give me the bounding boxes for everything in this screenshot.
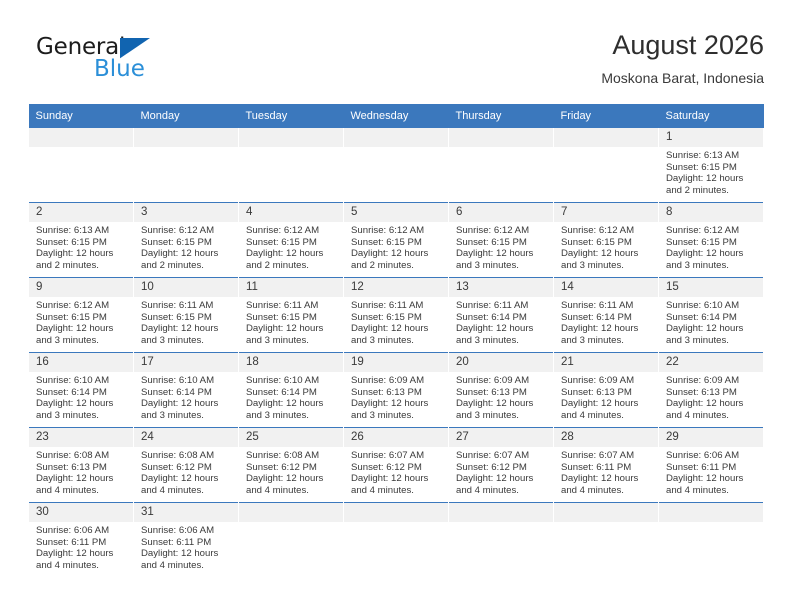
calendar-week-row: 23Sunrise: 6:08 AMSunset: 6:13 PMDayligh… bbox=[29, 428, 764, 503]
sunset-text: Sunset: 6:15 PM bbox=[561, 237, 652, 249]
day-sun-info: Sunrise: 6:12 AMSunset: 6:15 PMDaylight:… bbox=[344, 222, 448, 271]
day-number: 31 bbox=[134, 503, 238, 522]
sunset-text: Sunset: 6:14 PM bbox=[36, 387, 127, 399]
daylight-text-line1: Daylight: 12 hours bbox=[456, 398, 547, 410]
day-number bbox=[449, 503, 553, 522]
sunset-text: Sunset: 6:14 PM bbox=[666, 312, 757, 324]
day-sun-info: Sunrise: 6:06 AMSunset: 6:11 PMDaylight:… bbox=[659, 447, 763, 496]
calendar-day-cell[interactable]: 24Sunrise: 6:08 AMSunset: 6:12 PMDayligh… bbox=[134, 428, 239, 503]
sunset-text: Sunset: 6:14 PM bbox=[246, 387, 337, 399]
day-number bbox=[239, 503, 343, 522]
calendar-week-row: 9Sunrise: 6:12 AMSunset: 6:15 PMDaylight… bbox=[29, 278, 764, 353]
sunset-text: Sunset: 6:12 PM bbox=[351, 462, 442, 474]
calendar-empty-cell bbox=[449, 503, 554, 578]
day-number bbox=[239, 128, 343, 147]
weekday-header-thursday: Thursday bbox=[449, 104, 554, 128]
sunrise-text: Sunrise: 6:09 AM bbox=[456, 375, 547, 387]
day-sun-info: Sunrise: 6:09 AMSunset: 6:13 PMDaylight:… bbox=[659, 372, 763, 421]
page-title: August 2026 bbox=[601, 28, 764, 62]
general-blue-logo[interactable]: General Blue bbox=[36, 34, 236, 90]
calendar-empty-cell bbox=[449, 128, 554, 203]
day-number: 3 bbox=[134, 203, 238, 222]
sunrise-text: Sunrise: 6:07 AM bbox=[561, 450, 652, 462]
day-sun-info: Sunrise: 6:12 AMSunset: 6:15 PMDaylight:… bbox=[449, 222, 553, 271]
daylight-text-line2: and 3 minutes. bbox=[456, 335, 547, 347]
day-sun-info: Sunrise: 6:12 AMSunset: 6:15 PMDaylight:… bbox=[239, 222, 343, 271]
calendar-week-row: 1Sunrise: 6:13 AMSunset: 6:15 PMDaylight… bbox=[29, 128, 764, 203]
daylight-text-line2: and 3 minutes. bbox=[561, 335, 652, 347]
daylight-text-line1: Daylight: 12 hours bbox=[246, 398, 337, 410]
calendar-empty-cell bbox=[554, 128, 659, 203]
calendar-header-row: Sunday Monday Tuesday Wednesday Thursday… bbox=[29, 104, 764, 128]
day-sun-info: Sunrise: 6:09 AMSunset: 6:13 PMDaylight:… bbox=[554, 372, 658, 421]
daylight-text-line1: Daylight: 12 hours bbox=[141, 248, 232, 260]
day-sun-info: Sunrise: 6:09 AMSunset: 6:13 PMDaylight:… bbox=[449, 372, 553, 421]
sunrise-text: Sunrise: 6:12 AM bbox=[351, 225, 442, 237]
sunset-text: Sunset: 6:15 PM bbox=[141, 312, 232, 324]
day-number: 26 bbox=[344, 428, 448, 447]
sunrise-text: Sunrise: 6:10 AM bbox=[246, 375, 337, 387]
sunrise-text: Sunrise: 6:11 AM bbox=[561, 300, 652, 312]
title-block: August 2026 Moskona Barat, Indonesia bbox=[601, 28, 764, 89]
daylight-text-line2: and 3 minutes. bbox=[141, 410, 232, 422]
day-number: 2 bbox=[29, 203, 133, 222]
daylight-text-line1: Daylight: 12 hours bbox=[561, 398, 652, 410]
daylight-text-line2: and 2 minutes. bbox=[351, 260, 442, 272]
day-number: 10 bbox=[134, 278, 238, 297]
page-subtitle: Moskona Barat, Indonesia bbox=[601, 67, 764, 89]
calendar-day-cell[interactable]: 4Sunrise: 6:12 AMSunset: 6:15 PMDaylight… bbox=[239, 203, 344, 278]
sunrise-text: Sunrise: 6:11 AM bbox=[141, 300, 232, 312]
daylight-text-line2: and 3 minutes. bbox=[141, 335, 232, 347]
daylight-text-line1: Daylight: 12 hours bbox=[351, 473, 442, 485]
day-number: 9 bbox=[29, 278, 133, 297]
calendar-grid: Sunday Monday Tuesday Wednesday Thursday… bbox=[28, 104, 764, 577]
day-number: 24 bbox=[134, 428, 238, 447]
calendar-day-cell[interactable]: 1Sunrise: 6:13 AMSunset: 6:15 PMDaylight… bbox=[659, 128, 764, 203]
sunset-text: Sunset: 6:12 PM bbox=[246, 462, 337, 474]
daylight-text-line2: and 2 minutes. bbox=[666, 185, 757, 197]
day-number: 4 bbox=[239, 203, 343, 222]
calendar-day-cell[interactable]: 12Sunrise: 6:11 AMSunset: 6:15 PMDayligh… bbox=[344, 278, 449, 353]
sunrise-text: Sunrise: 6:10 AM bbox=[36, 375, 127, 387]
day-sun-info: Sunrise: 6:08 AMSunset: 6:12 PMDaylight:… bbox=[239, 447, 343, 496]
sunrise-text: Sunrise: 6:08 AM bbox=[246, 450, 337, 462]
day-number bbox=[134, 128, 238, 147]
daylight-text-line1: Daylight: 12 hours bbox=[666, 473, 757, 485]
day-sun-info: Sunrise: 6:10 AMSunset: 6:14 PMDaylight:… bbox=[29, 372, 133, 421]
calendar-empty-cell bbox=[239, 503, 344, 578]
daylight-text-line2: and 4 minutes. bbox=[246, 485, 337, 497]
day-number: 12 bbox=[344, 278, 448, 297]
daylight-text-line1: Daylight: 12 hours bbox=[36, 398, 127, 410]
day-number bbox=[344, 128, 448, 147]
sunrise-text: Sunrise: 6:07 AM bbox=[351, 450, 442, 462]
weekday-header-saturday: Saturday bbox=[659, 104, 764, 128]
calendar-day-cell[interactable]: 17Sunrise: 6:10 AMSunset: 6:14 PMDayligh… bbox=[134, 353, 239, 428]
sunrise-text: Sunrise: 6:09 AM bbox=[666, 375, 757, 387]
sunset-text: Sunset: 6:15 PM bbox=[246, 237, 337, 249]
sunrise-text: Sunrise: 6:09 AM bbox=[561, 375, 652, 387]
sunset-text: Sunset: 6:14 PM bbox=[141, 387, 232, 399]
day-sun-info: Sunrise: 6:07 AMSunset: 6:11 PMDaylight:… bbox=[554, 447, 658, 496]
day-number: 29 bbox=[659, 428, 763, 447]
calendar-day-cell[interactable]: 19Sunrise: 6:09 AMSunset: 6:13 PMDayligh… bbox=[344, 353, 449, 428]
sunset-text: Sunset: 6:15 PM bbox=[351, 237, 442, 249]
calendar-day-cell[interactable]: 5Sunrise: 6:12 AMSunset: 6:15 PMDaylight… bbox=[344, 203, 449, 278]
day-sun-info: Sunrise: 6:08 AMSunset: 6:13 PMDaylight:… bbox=[29, 447, 133, 496]
calendar-empty-cell bbox=[344, 503, 449, 578]
day-number: 21 bbox=[554, 353, 658, 372]
sunset-text: Sunset: 6:15 PM bbox=[666, 162, 757, 174]
calendar-day-cell[interactable]: 28Sunrise: 6:07 AMSunset: 6:11 PMDayligh… bbox=[554, 428, 659, 503]
day-number: 11 bbox=[239, 278, 343, 297]
day-number bbox=[449, 128, 553, 147]
daylight-text-line1: Daylight: 12 hours bbox=[141, 548, 232, 560]
daylight-text-line2: and 3 minutes. bbox=[666, 260, 757, 272]
day-number bbox=[344, 503, 448, 522]
day-sun-info: Sunrise: 6:10 AMSunset: 6:14 PMDaylight:… bbox=[134, 372, 238, 421]
calendar-day-cell[interactable]: 14Sunrise: 6:11 AMSunset: 6:14 PMDayligh… bbox=[554, 278, 659, 353]
daylight-text-line2: and 3 minutes. bbox=[351, 410, 442, 422]
day-sun-info: Sunrise: 6:08 AMSunset: 6:12 PMDaylight:… bbox=[134, 447, 238, 496]
calendar-week-row: 16Sunrise: 6:10 AMSunset: 6:14 PMDayligh… bbox=[29, 353, 764, 428]
daylight-text-line1: Daylight: 12 hours bbox=[36, 548, 127, 560]
calendar-day-cell[interactable]: 25Sunrise: 6:08 AMSunset: 6:12 PMDayligh… bbox=[239, 428, 344, 503]
day-number bbox=[554, 503, 658, 522]
day-sun-info: Sunrise: 6:06 AMSunset: 6:11 PMDaylight:… bbox=[134, 522, 238, 571]
day-number: 15 bbox=[659, 278, 763, 297]
sunrise-text: Sunrise: 6:07 AM bbox=[456, 450, 547, 462]
day-number: 13 bbox=[449, 278, 553, 297]
daylight-text-line2: and 4 minutes. bbox=[141, 560, 232, 572]
sunset-text: Sunset: 6:13 PM bbox=[36, 462, 127, 474]
weekday-header-monday: Monday bbox=[134, 104, 239, 128]
calendar-day-cell[interactable]: 26Sunrise: 6:07 AMSunset: 6:12 PMDayligh… bbox=[344, 428, 449, 503]
calendar-day-cell[interactable]: 11Sunrise: 6:11 AMSunset: 6:15 PMDayligh… bbox=[239, 278, 344, 353]
calendar-day-cell[interactable]: 20Sunrise: 6:09 AMSunset: 6:13 PMDayligh… bbox=[449, 353, 554, 428]
day-sun-info: Sunrise: 6:12 AMSunset: 6:15 PMDaylight:… bbox=[554, 222, 658, 271]
day-sun-info: Sunrise: 6:11 AMSunset: 6:14 PMDaylight:… bbox=[449, 297, 553, 346]
day-number: 6 bbox=[449, 203, 553, 222]
sunrise-text: Sunrise: 6:11 AM bbox=[351, 300, 442, 312]
sunrise-text: Sunrise: 6:13 AM bbox=[36, 225, 127, 237]
day-number bbox=[29, 128, 133, 147]
calendar-week-row: 30Sunrise: 6:06 AMSunset: 6:11 PMDayligh… bbox=[29, 503, 764, 578]
daylight-text-line1: Daylight: 12 hours bbox=[36, 248, 127, 260]
daylight-text-line2: and 3 minutes. bbox=[666, 335, 757, 347]
daylight-text-line2: and 3 minutes. bbox=[456, 260, 547, 272]
daylight-text-line1: Daylight: 12 hours bbox=[456, 248, 547, 260]
calendar-day-cell[interactable]: 15Sunrise: 6:10 AMSunset: 6:14 PMDayligh… bbox=[659, 278, 764, 353]
daylight-text-line2: and 4 minutes. bbox=[561, 410, 652, 422]
day-sun-info: Sunrise: 6:13 AMSunset: 6:15 PMDaylight:… bbox=[659, 147, 763, 196]
calendar-page: General Blue August 2026 Moskona Barat, … bbox=[0, 0, 792, 612]
daylight-text-line2: and 2 minutes. bbox=[141, 260, 232, 272]
daylight-text-line1: Daylight: 12 hours bbox=[141, 398, 232, 410]
daylight-text-line1: Daylight: 12 hours bbox=[36, 323, 127, 335]
sunset-text: Sunset: 6:15 PM bbox=[351, 312, 442, 324]
page-header: General Blue August 2026 Moskona Barat, … bbox=[28, 28, 764, 96]
sunrise-text: Sunrise: 6:09 AM bbox=[351, 375, 442, 387]
daylight-text-line1: Daylight: 12 hours bbox=[666, 248, 757, 260]
daylight-text-line2: and 3 minutes. bbox=[561, 260, 652, 272]
sunset-text: Sunset: 6:12 PM bbox=[456, 462, 547, 474]
calendar-empty-cell bbox=[344, 128, 449, 203]
calendar-empty-cell bbox=[134, 128, 239, 203]
calendar-day-cell[interactable]: 8Sunrise: 6:12 AMSunset: 6:15 PMDaylight… bbox=[659, 203, 764, 278]
calendar-day-cell[interactable]: 6Sunrise: 6:12 AMSunset: 6:15 PMDaylight… bbox=[449, 203, 554, 278]
sunrise-text: Sunrise: 6:13 AM bbox=[666, 150, 757, 162]
daylight-text-line2: and 3 minutes. bbox=[456, 410, 547, 422]
sunrise-text: Sunrise: 6:10 AM bbox=[666, 300, 757, 312]
daylight-text-line2: and 4 minutes. bbox=[36, 485, 127, 497]
sunset-text: Sunset: 6:14 PM bbox=[456, 312, 547, 324]
sunrise-text: Sunrise: 6:12 AM bbox=[561, 225, 652, 237]
day-sun-info: Sunrise: 6:06 AMSunset: 6:11 PMDaylight:… bbox=[29, 522, 133, 571]
sunrise-text: Sunrise: 6:08 AM bbox=[36, 450, 127, 462]
day-number: 1 bbox=[659, 128, 763, 147]
day-sun-info: Sunrise: 6:11 AMSunset: 6:15 PMDaylight:… bbox=[134, 297, 238, 346]
daylight-text-line2: and 4 minutes. bbox=[456, 485, 547, 497]
day-number: 18 bbox=[239, 353, 343, 372]
calendar-day-cell[interactable]: 16Sunrise: 6:10 AMSunset: 6:14 PMDayligh… bbox=[29, 353, 134, 428]
sunrise-text: Sunrise: 6:12 AM bbox=[141, 225, 232, 237]
daylight-text-line2: and 4 minutes. bbox=[141, 485, 232, 497]
calendar-day-cell[interactable]: 30Sunrise: 6:06 AMSunset: 6:11 PMDayligh… bbox=[29, 503, 134, 578]
calendar-day-cell[interactable]: 9Sunrise: 6:12 AMSunset: 6:15 PMDaylight… bbox=[29, 278, 134, 353]
daylight-text-line1: Daylight: 12 hours bbox=[666, 173, 757, 185]
sunset-text: Sunset: 6:14 PM bbox=[561, 312, 652, 324]
day-number bbox=[659, 503, 763, 522]
day-number: 27 bbox=[449, 428, 553, 447]
daylight-text-line2: and 4 minutes. bbox=[666, 485, 757, 497]
daylight-text-line1: Daylight: 12 hours bbox=[456, 323, 547, 335]
day-sun-info: Sunrise: 6:11 AMSunset: 6:15 PMDaylight:… bbox=[239, 297, 343, 346]
day-sun-info: Sunrise: 6:11 AMSunset: 6:15 PMDaylight:… bbox=[344, 297, 448, 346]
daylight-text-line2: and 3 minutes. bbox=[246, 410, 337, 422]
sunrise-text: Sunrise: 6:12 AM bbox=[666, 225, 757, 237]
calendar-day-cell[interactable]: 27Sunrise: 6:07 AMSunset: 6:12 PMDayligh… bbox=[449, 428, 554, 503]
calendar-day-cell[interactable]: 18Sunrise: 6:10 AMSunset: 6:14 PMDayligh… bbox=[239, 353, 344, 428]
day-sun-info: Sunrise: 6:12 AMSunset: 6:15 PMDaylight:… bbox=[134, 222, 238, 271]
daylight-text-line1: Daylight: 12 hours bbox=[351, 323, 442, 335]
calendar-day-cell[interactable]: 21Sunrise: 6:09 AMSunset: 6:13 PMDayligh… bbox=[554, 353, 659, 428]
sunrise-text: Sunrise: 6:12 AM bbox=[246, 225, 337, 237]
daylight-text-line2: and 4 minutes. bbox=[36, 560, 127, 572]
sunrise-text: Sunrise: 6:12 AM bbox=[456, 225, 547, 237]
sunrise-text: Sunrise: 6:10 AM bbox=[141, 375, 232, 387]
sunset-text: Sunset: 6:11 PM bbox=[666, 462, 757, 474]
daylight-text-line2: and 4 minutes. bbox=[351, 485, 442, 497]
calendar-day-cell[interactable]: 29Sunrise: 6:06 AMSunset: 6:11 PMDayligh… bbox=[659, 428, 764, 503]
day-number: 28 bbox=[554, 428, 658, 447]
daylight-text-line2: and 2 minutes. bbox=[246, 260, 337, 272]
daylight-text-line1: Daylight: 12 hours bbox=[456, 473, 547, 485]
daylight-text-line1: Daylight: 12 hours bbox=[246, 248, 337, 260]
daylight-text-line1: Daylight: 12 hours bbox=[141, 323, 232, 335]
day-number bbox=[554, 128, 658, 147]
calendar-day-cell[interactable]: 3Sunrise: 6:12 AMSunset: 6:15 PMDaylight… bbox=[134, 203, 239, 278]
weekday-header-wednesday: Wednesday bbox=[344, 104, 449, 128]
day-number: 8 bbox=[659, 203, 763, 222]
calendar-body: 1Sunrise: 6:13 AMSunset: 6:15 PMDaylight… bbox=[29, 128, 764, 577]
calendar-day-cell[interactable]: 22Sunrise: 6:09 AMSunset: 6:13 PMDayligh… bbox=[659, 353, 764, 428]
daylight-text-line1: Daylight: 12 hours bbox=[666, 398, 757, 410]
sunrise-text: Sunrise: 6:11 AM bbox=[246, 300, 337, 312]
calendar-empty-cell bbox=[29, 128, 134, 203]
daylight-text-line2: and 3 minutes. bbox=[246, 335, 337, 347]
day-sun-info: Sunrise: 6:07 AMSunset: 6:12 PMDaylight:… bbox=[344, 447, 448, 496]
day-number: 5 bbox=[344, 203, 448, 222]
day-sun-info: Sunrise: 6:12 AMSunset: 6:15 PMDaylight:… bbox=[29, 297, 133, 346]
sunset-text: Sunset: 6:11 PM bbox=[561, 462, 652, 474]
calendar-empty-cell bbox=[554, 503, 659, 578]
sunset-text: Sunset: 6:13 PM bbox=[561, 387, 652, 399]
day-number: 22 bbox=[659, 353, 763, 372]
day-number: 20 bbox=[449, 353, 553, 372]
sunset-text: Sunset: 6:15 PM bbox=[246, 312, 337, 324]
day-sun-info: Sunrise: 6:07 AMSunset: 6:12 PMDaylight:… bbox=[449, 447, 553, 496]
sunset-text: Sunset: 6:11 PM bbox=[36, 537, 127, 549]
daylight-text-line2: and 3 minutes. bbox=[36, 335, 127, 347]
day-number: 17 bbox=[134, 353, 238, 372]
daylight-text-line1: Daylight: 12 hours bbox=[561, 323, 652, 335]
daylight-text-line1: Daylight: 12 hours bbox=[561, 248, 652, 260]
sunrise-text: Sunrise: 6:12 AM bbox=[36, 300, 127, 312]
sunrise-text: Sunrise: 6:06 AM bbox=[141, 525, 232, 537]
sunset-text: Sunset: 6:15 PM bbox=[36, 312, 127, 324]
daylight-text-line1: Daylight: 12 hours bbox=[246, 473, 337, 485]
daylight-text-line1: Daylight: 12 hours bbox=[351, 398, 442, 410]
sunrise-text: Sunrise: 6:06 AM bbox=[36, 525, 127, 537]
weekday-header-friday: Friday bbox=[554, 104, 659, 128]
day-sun-info: Sunrise: 6:13 AMSunset: 6:15 PMDaylight:… bbox=[29, 222, 133, 271]
sunset-text: Sunset: 6:13 PM bbox=[666, 387, 757, 399]
sunset-text: Sunset: 6:13 PM bbox=[351, 387, 442, 399]
day-sun-info: Sunrise: 6:11 AMSunset: 6:14 PMDaylight:… bbox=[554, 297, 658, 346]
sunset-text: Sunset: 6:15 PM bbox=[141, 237, 232, 249]
sunset-text: Sunset: 6:12 PM bbox=[141, 462, 232, 474]
daylight-text-line1: Daylight: 12 hours bbox=[36, 473, 127, 485]
sunset-text: Sunset: 6:15 PM bbox=[666, 237, 757, 249]
calendar-empty-cell bbox=[239, 128, 344, 203]
weekday-header-sunday: Sunday bbox=[29, 104, 134, 128]
calendar-week-row: 2Sunrise: 6:13 AMSunset: 6:15 PMDaylight… bbox=[29, 203, 764, 278]
calendar-day-cell[interactable]: 10Sunrise: 6:11 AMSunset: 6:15 PMDayligh… bbox=[134, 278, 239, 353]
daylight-text-line2: and 4 minutes. bbox=[666, 410, 757, 422]
daylight-text-line1: Daylight: 12 hours bbox=[246, 323, 337, 335]
day-sun-info: Sunrise: 6:09 AMSunset: 6:13 PMDaylight:… bbox=[344, 372, 448, 421]
daylight-text-line1: Daylight: 12 hours bbox=[561, 473, 652, 485]
day-number: 19 bbox=[344, 353, 448, 372]
calendar-day-cell[interactable]: 31Sunrise: 6:06 AMSunset: 6:11 PMDayligh… bbox=[134, 503, 239, 578]
daylight-text-line2: and 2 minutes. bbox=[36, 260, 127, 272]
sunrise-text: Sunrise: 6:11 AM bbox=[456, 300, 547, 312]
sunset-text: Sunset: 6:13 PM bbox=[456, 387, 547, 399]
daylight-text-line2: and 3 minutes. bbox=[36, 410, 127, 422]
daylight-text-line1: Daylight: 12 hours bbox=[666, 323, 757, 335]
calendar-day-cell[interactable]: 2Sunrise: 6:13 AMSunset: 6:15 PMDaylight… bbox=[29, 203, 134, 278]
calendar-empty-cell bbox=[659, 503, 764, 578]
calendar-day-cell[interactable]: 7Sunrise: 6:12 AMSunset: 6:15 PMDaylight… bbox=[554, 203, 659, 278]
weekday-header-tuesday: Tuesday bbox=[239, 104, 344, 128]
day-sun-info: Sunrise: 6:12 AMSunset: 6:15 PMDaylight:… bbox=[659, 222, 763, 271]
daylight-text-line2: and 4 minutes. bbox=[561, 485, 652, 497]
day-sun-info: Sunrise: 6:10 AMSunset: 6:14 PMDaylight:… bbox=[239, 372, 343, 421]
daylight-text-line1: Daylight: 12 hours bbox=[351, 248, 442, 260]
day-number: 7 bbox=[554, 203, 658, 222]
sunrise-text: Sunrise: 6:08 AM bbox=[141, 450, 232, 462]
calendar-day-cell[interactable]: 13Sunrise: 6:11 AMSunset: 6:14 PMDayligh… bbox=[449, 278, 554, 353]
sunrise-text: Sunrise: 6:06 AM bbox=[666, 450, 757, 462]
daylight-text-line2: and 3 minutes. bbox=[351, 335, 442, 347]
daylight-text-line1: Daylight: 12 hours bbox=[141, 473, 232, 485]
sunset-text: Sunset: 6:11 PM bbox=[141, 537, 232, 549]
day-number: 30 bbox=[29, 503, 133, 522]
sunset-text: Sunset: 6:15 PM bbox=[36, 237, 127, 249]
day-number: 25 bbox=[239, 428, 343, 447]
day-number: 14 bbox=[554, 278, 658, 297]
logo-text-blue: Blue bbox=[94, 56, 145, 82]
day-number: 16 bbox=[29, 353, 133, 372]
calendar-day-cell[interactable]: 23Sunrise: 6:08 AMSunset: 6:13 PMDayligh… bbox=[29, 428, 134, 503]
day-sun-info: Sunrise: 6:10 AMSunset: 6:14 PMDaylight:… bbox=[659, 297, 763, 346]
sunset-text: Sunset: 6:15 PM bbox=[456, 237, 547, 249]
day-number: 23 bbox=[29, 428, 133, 447]
